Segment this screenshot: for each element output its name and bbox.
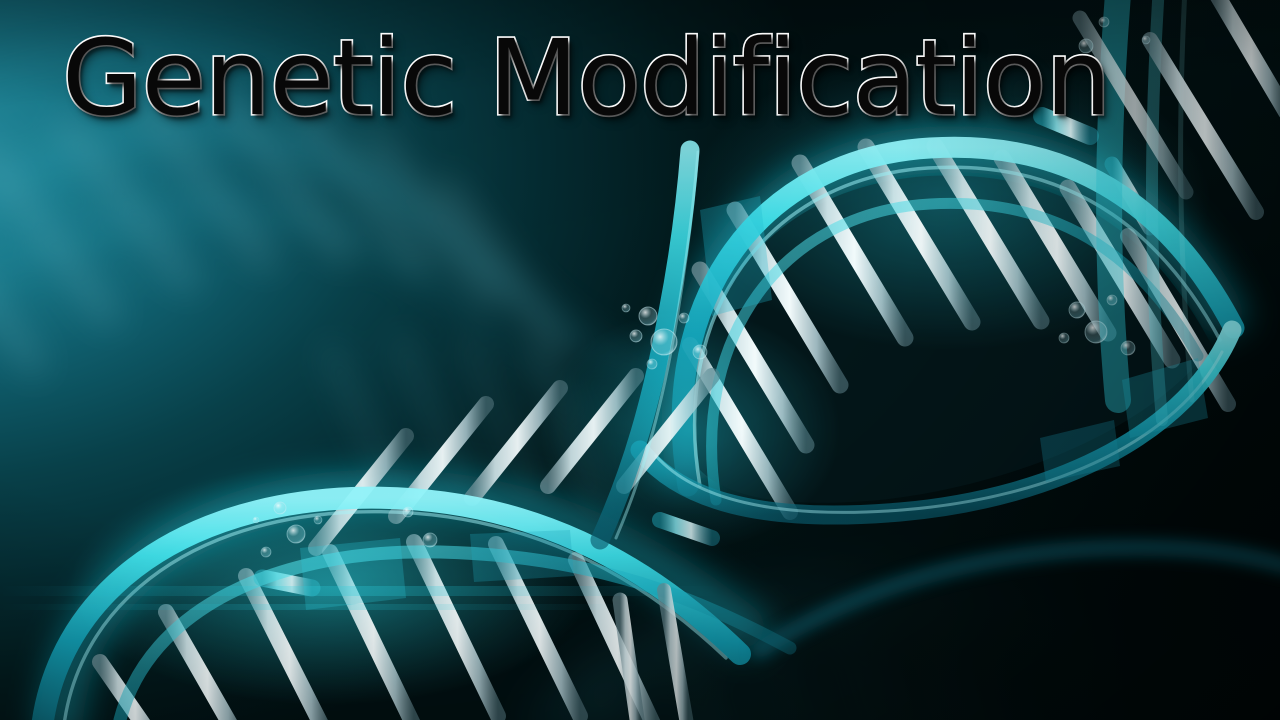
- title-card-canvas: Genetic Modification: [0, 0, 1280, 720]
- top-fade-overlay: [0, 0, 1280, 720]
